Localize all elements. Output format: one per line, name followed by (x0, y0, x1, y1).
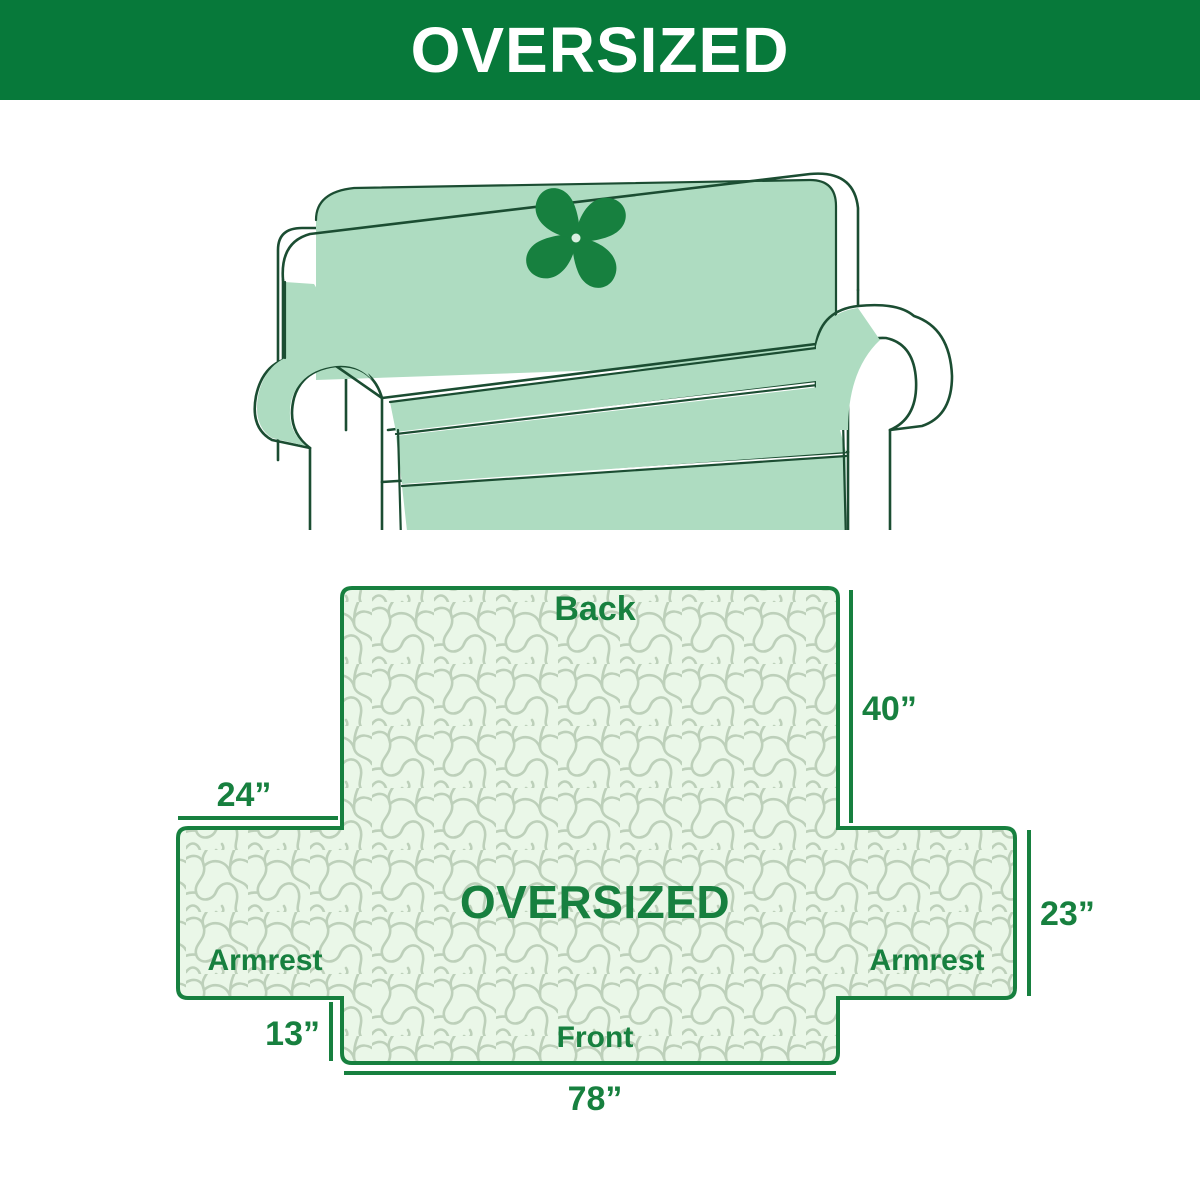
size-diagram-section: Back OVERSIZED Armrest Armrest Front 24”… (0, 540, 1200, 1200)
dimension-value-23: 23” (1040, 895, 1095, 933)
label-armrest-right: Armrest (869, 944, 984, 977)
label-back: Back (554, 590, 635, 628)
dimension-value-24: 24” (217, 776, 272, 814)
header-banner: OVERSIZED (0, 0, 1200, 100)
dimension-back-height: 40” (851, 590, 917, 823)
dimension-value-13: 13” (265, 1015, 320, 1053)
dimension-seat-height: 23” (1029, 830, 1095, 996)
seat-cover-panel (390, 348, 846, 530)
dimension-total-width: 78” (344, 1073, 836, 1118)
sofa-illustration-section: .ln { fill:none; stroke:#1b4d32; stroke-… (0, 100, 1200, 540)
label-front: Front (557, 1021, 634, 1054)
sofa-with-cover-illustration: .ln { fill:none; stroke:#1b4d32; stroke-… (250, 130, 970, 530)
cover-shape (170, 580, 1026, 1072)
dimension-back-depth: 24” (178, 776, 338, 818)
dimension-value-40: 40” (862, 690, 917, 728)
label-armrest-left: Armrest (207, 944, 322, 977)
page-title: OVERSIZED (411, 18, 790, 82)
label-center-oversized: OVERSIZED (460, 876, 730, 928)
cover-flat-layout-diagram: Back OVERSIZED Armrest Armrest Front 24”… (0, 540, 1200, 1200)
dimension-front-drop: 13” (265, 1002, 331, 1061)
dimension-value-78: 78” (568, 1080, 623, 1118)
right-armrest-cover (816, 308, 880, 430)
